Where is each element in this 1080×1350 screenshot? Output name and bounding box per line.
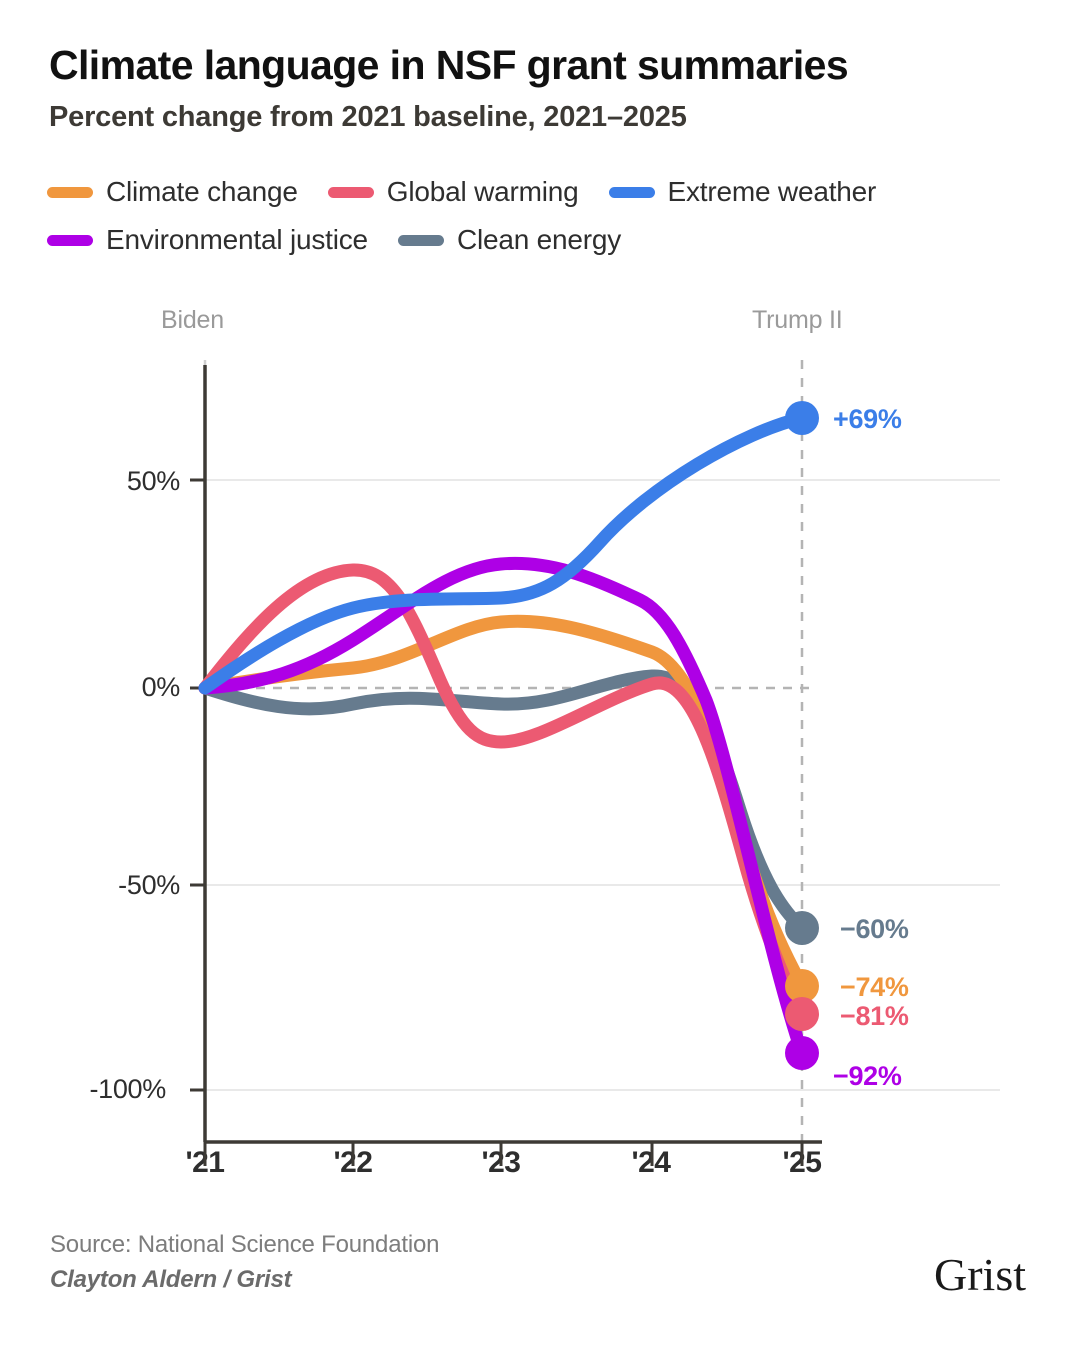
legend-swatch-clean-energy bbox=[398, 235, 444, 246]
page-subtitle: Percent change from 2021 baseline, 2021–… bbox=[49, 101, 1049, 133]
source-note: Source: National Science Foundation bbox=[50, 1231, 439, 1259]
legend-swatch-environmental-justice bbox=[47, 235, 93, 246]
legend-label-global-warming: Global warming bbox=[387, 176, 579, 208]
legend-item-clean-energy[interactable]: Clean energy bbox=[398, 224, 621, 256]
legend-row-1: Climate change Global warming Extreme we… bbox=[47, 168, 1047, 216]
page-title: Climate language in NSF grant summaries bbox=[49, 44, 1049, 87]
end-label-global-warming: −81% bbox=[840, 1001, 909, 1032]
end-dot-clean-energy bbox=[785, 911, 819, 945]
end-dot-extreme-weather bbox=[785, 401, 819, 435]
legend-label-environmental-justice: Environmental justice bbox=[106, 224, 368, 256]
legend-label-climate-change: Climate change bbox=[106, 176, 298, 208]
grist-logo: Grist bbox=[934, 1252, 1026, 1298]
end-label-climate-change: −74% bbox=[840, 972, 909, 1003]
axis-lines bbox=[205, 365, 822, 1142]
legend-row-2: Environmental justice Clean energy bbox=[47, 216, 1047, 264]
end-dot-global-warming bbox=[785, 997, 819, 1031]
end-label-extreme-weather: +69% bbox=[833, 404, 902, 435]
series-line-extreme-weather bbox=[205, 418, 802, 688]
legend-swatch-global-warming bbox=[328, 187, 374, 198]
end-label-environmental-justice: −92% bbox=[833, 1061, 902, 1092]
end-label-clean-energy: −60% bbox=[840, 914, 909, 945]
legend-label-extreme-weather: Extreme weather bbox=[668, 176, 877, 208]
chart-legend: Climate change Global warming Extreme we… bbox=[47, 168, 1047, 264]
legend-label-clean-energy: Clean energy bbox=[457, 224, 621, 256]
legend-item-extreme-weather[interactable]: Extreme weather bbox=[609, 176, 877, 208]
legend-item-global-warming[interactable]: Global warming bbox=[328, 176, 579, 208]
infographic-root: Climate language in NSF grant summaries … bbox=[0, 0, 1080, 1350]
legend-item-environmental-justice[interactable]: Environmental justice bbox=[47, 224, 368, 256]
end-dot-environmental-justice bbox=[785, 1036, 819, 1070]
byline: Clayton Aldern / Grist bbox=[50, 1266, 291, 1294]
legend-swatch-climate-change bbox=[47, 187, 93, 198]
legend-item-climate-change[interactable]: Climate change bbox=[47, 176, 298, 208]
axis-ticks bbox=[190, 480, 802, 1166]
chart-plot-area bbox=[0, 280, 1080, 1180]
legend-swatch-extreme-weather bbox=[609, 187, 655, 198]
